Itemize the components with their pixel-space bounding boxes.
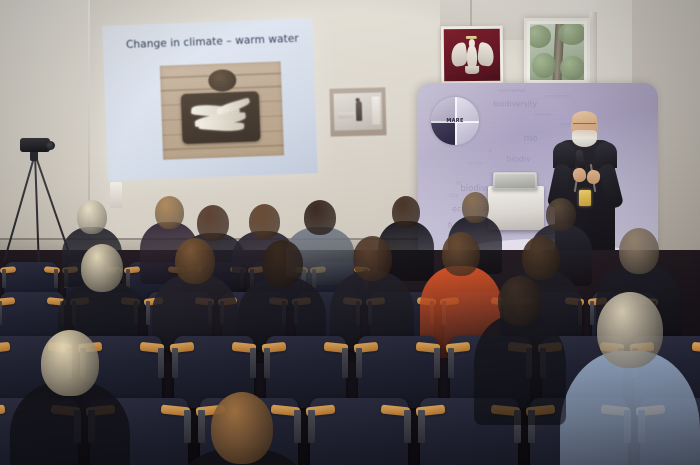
- slide-title: Change in climate – warm water: [126, 33, 299, 51]
- secondary-projection-image: [334, 92, 383, 130]
- seat-arm-post: [434, 348, 440, 378]
- person-head: [597, 292, 663, 368]
- person-head: [304, 200, 336, 235]
- person-front-mid-right: [474, 276, 566, 436]
- person-front-left: [10, 330, 130, 465]
- laptop: [493, 172, 538, 190]
- seat-arm-post: [0, 301, 2, 325]
- person-head: [262, 240, 303, 287]
- person-head: [392, 196, 420, 228]
- person-head: [249, 204, 280, 239]
- wordcloud-term: biodiversity: [493, 100, 537, 109]
- banner-logo-label: MARE: [431, 118, 479, 124]
- laptop-screen: [495, 174, 536, 188]
- wordcloud-term: mo: [524, 134, 538, 144]
- person-front-center: [178, 392, 306, 465]
- person-head: [353, 236, 392, 281]
- person-head: [175, 238, 215, 284]
- seat-arm-post: [158, 348, 164, 378]
- tree-foliage-3: [532, 53, 556, 78]
- slide-photo-tray: [181, 91, 261, 144]
- person-head: [498, 276, 542, 326]
- person-head: [211, 392, 273, 464]
- seat-arm-post: [404, 410, 411, 443]
- polish-coat-of-arms-icon: [441, 26, 504, 85]
- seat-arm-post: [342, 348, 348, 378]
- person-head: [81, 244, 123, 292]
- person-front-right-blue-shirt: [560, 292, 700, 465]
- projection-screen: Change in climate – warm water: [102, 18, 318, 181]
- wordcloud-term: a: [488, 148, 491, 154]
- person-head: [442, 232, 480, 276]
- seat-arm-post: [250, 348, 256, 378]
- wordcloud-term: nonnative: [498, 88, 525, 94]
- seat-arm-post: [418, 410, 425, 443]
- seat-arm-post: [356, 348, 362, 378]
- person-head: [197, 205, 229, 241]
- seat-arm-post: [172, 348, 178, 378]
- person-torso: [560, 351, 700, 465]
- person-head: [546, 198, 576, 231]
- wordcloud-term: ecosystems: [545, 94, 570, 99]
- person-head: [522, 236, 560, 280]
- slide: Change in climate – warm water: [102, 18, 318, 181]
- tree-foliage-2: [558, 24, 584, 45]
- camera-tripod: [8, 138, 64, 270]
- secondary-projection: [329, 87, 386, 136]
- seat-arm-post: [308, 410, 315, 443]
- seat-arm-post: [146, 301, 150, 325]
- tree-foliage-4: [560, 56, 584, 80]
- seat-arm-post: [448, 348, 454, 378]
- conference-scene: Change in climate – warm water: [0, 0, 700, 465]
- emblem-field: [444, 29, 501, 82]
- wordcloud-term: benthic: [468, 161, 483, 166]
- window-glass: [530, 24, 584, 80]
- wordcloud-term: gr: [456, 180, 461, 186]
- seat-arm-post: [264, 348, 270, 378]
- person-head: [41, 330, 99, 396]
- tree-foliage-1: [530, 25, 551, 47]
- person-head: [462, 192, 489, 223]
- camera-lens-icon: [46, 141, 55, 150]
- person-torso: [474, 315, 566, 425]
- person-head: [619, 228, 659, 274]
- person-head: [77, 200, 107, 234]
- seat-arm-post: [2, 269, 6, 288]
- glasses-icon: [573, 123, 596, 127]
- slide-photo: [159, 61, 284, 160]
- banner-logo-icon: MARE: [431, 97, 479, 145]
- speaker-beard: [572, 130, 597, 147]
- window: [524, 18, 590, 86]
- wordcloud-term: biodiv: [507, 155, 531, 164]
